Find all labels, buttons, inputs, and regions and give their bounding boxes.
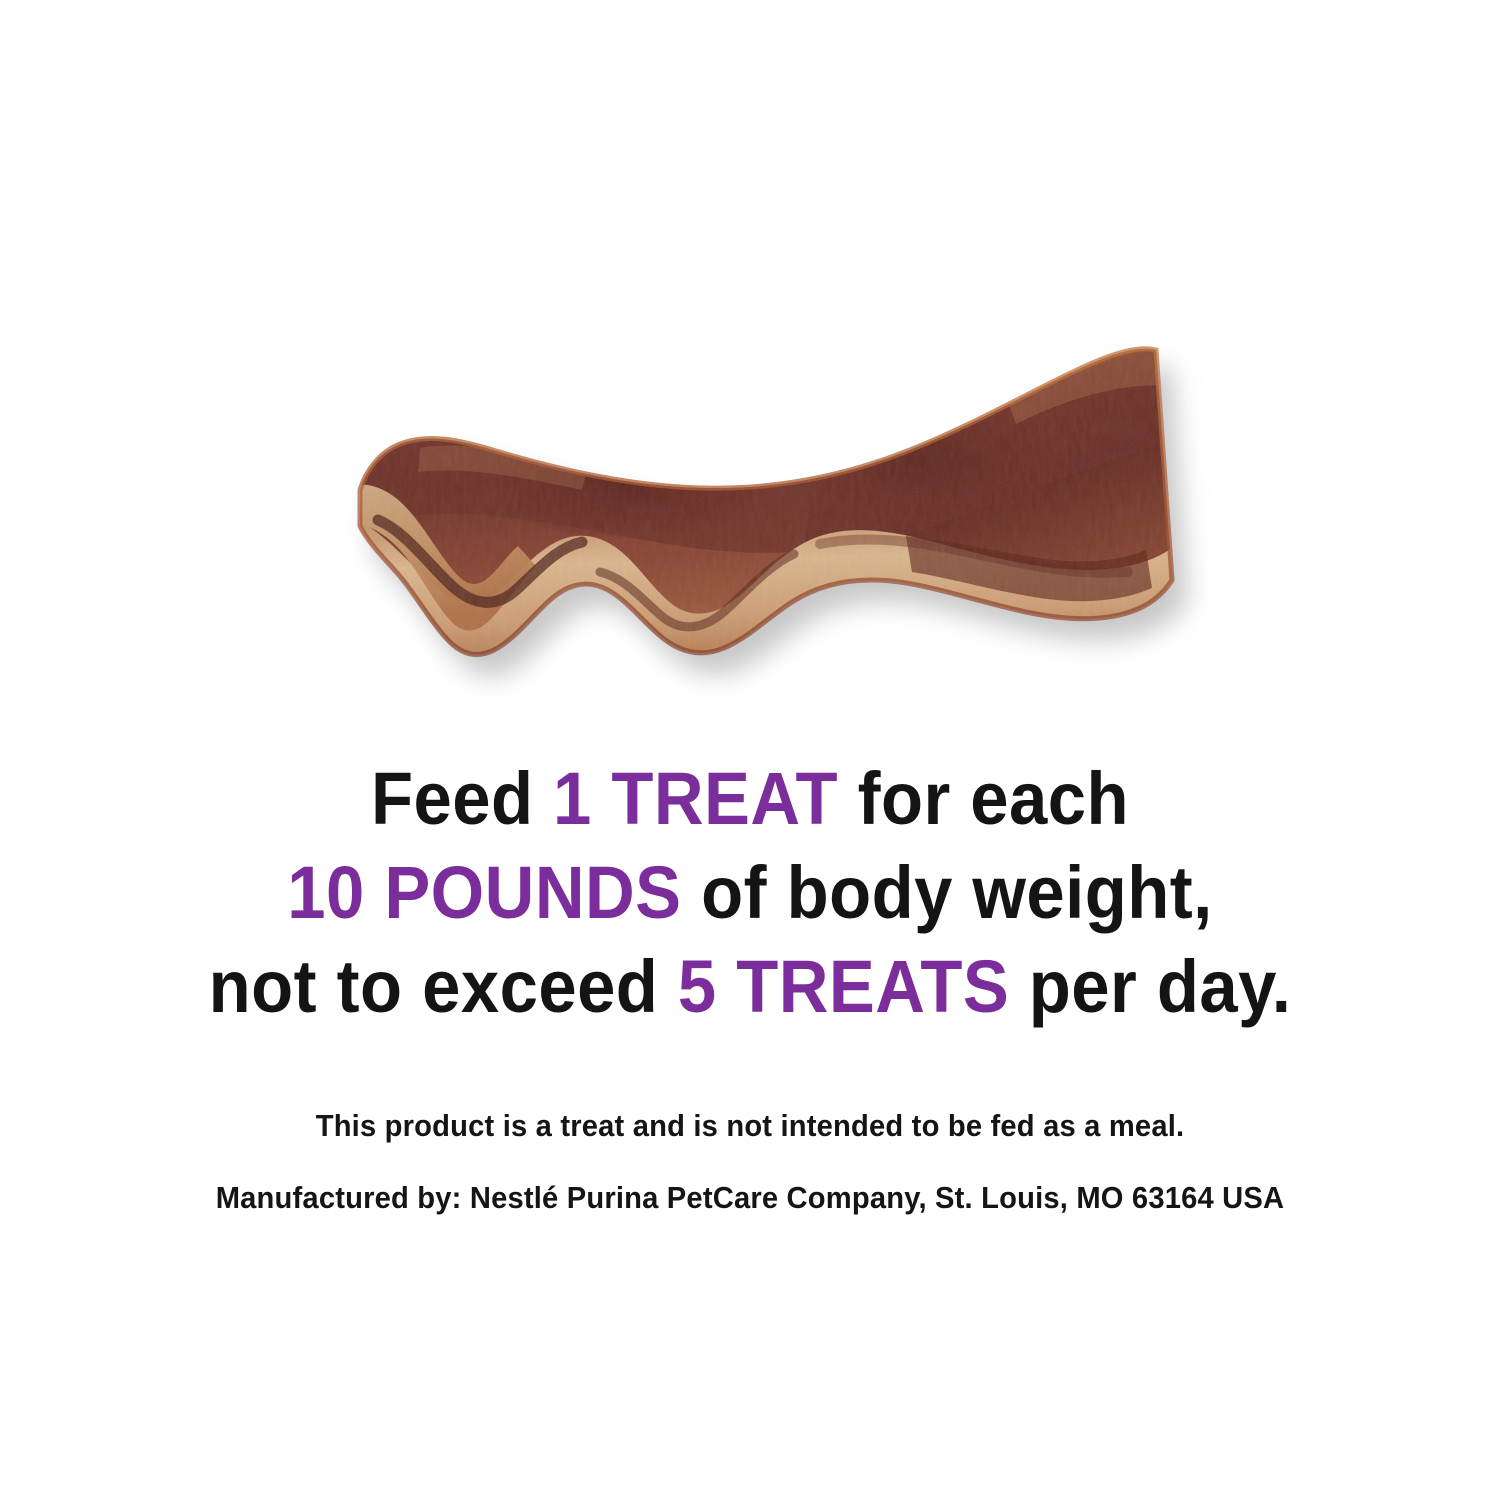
bacon-strip-shape xyxy=(300,320,1220,720)
feeding-headline: Feed 1 TREAT for each 10 POUNDS of body … xyxy=(0,752,1500,1034)
headline-seg-1-treat: 1 TREAT xyxy=(553,757,838,840)
headline-seg-10-pounds: 10 POUNDS xyxy=(287,851,681,934)
headline-seg-for-each: for each xyxy=(838,757,1129,840)
headline-seg-not-exceed: not to exceed xyxy=(209,945,678,1028)
headline-seg-5-treats: 5 TREATS xyxy=(678,945,1009,1028)
headline-line-1: Feed 1 TREAT for each xyxy=(53,752,1448,846)
headline-seg-body-weight: of body weight, xyxy=(682,851,1213,934)
headline-seg-feed: Feed xyxy=(371,757,553,840)
treat-disclaimer-text: This product is a treat and is not inten… xyxy=(45,1090,1455,1162)
manufacturer-text: Manufactured by: Nestlé Purina PetCare C… xyxy=(45,1162,1455,1234)
feeding-instructions-panel: Feed 1 TREAT for each 10 POUNDS of body … xyxy=(0,0,1500,1500)
headline-line-2: 10 POUNDS of body weight, xyxy=(53,846,1448,940)
fineprint-block: This product is a treat and is not inten… xyxy=(0,1090,1500,1234)
headline-line-3: not to exceed 5 TREATS per day. xyxy=(53,940,1448,1034)
headline-seg-per-day: per day. xyxy=(1009,945,1291,1028)
product-image-area xyxy=(300,320,1220,720)
bacon-strip-image xyxy=(300,320,1220,720)
